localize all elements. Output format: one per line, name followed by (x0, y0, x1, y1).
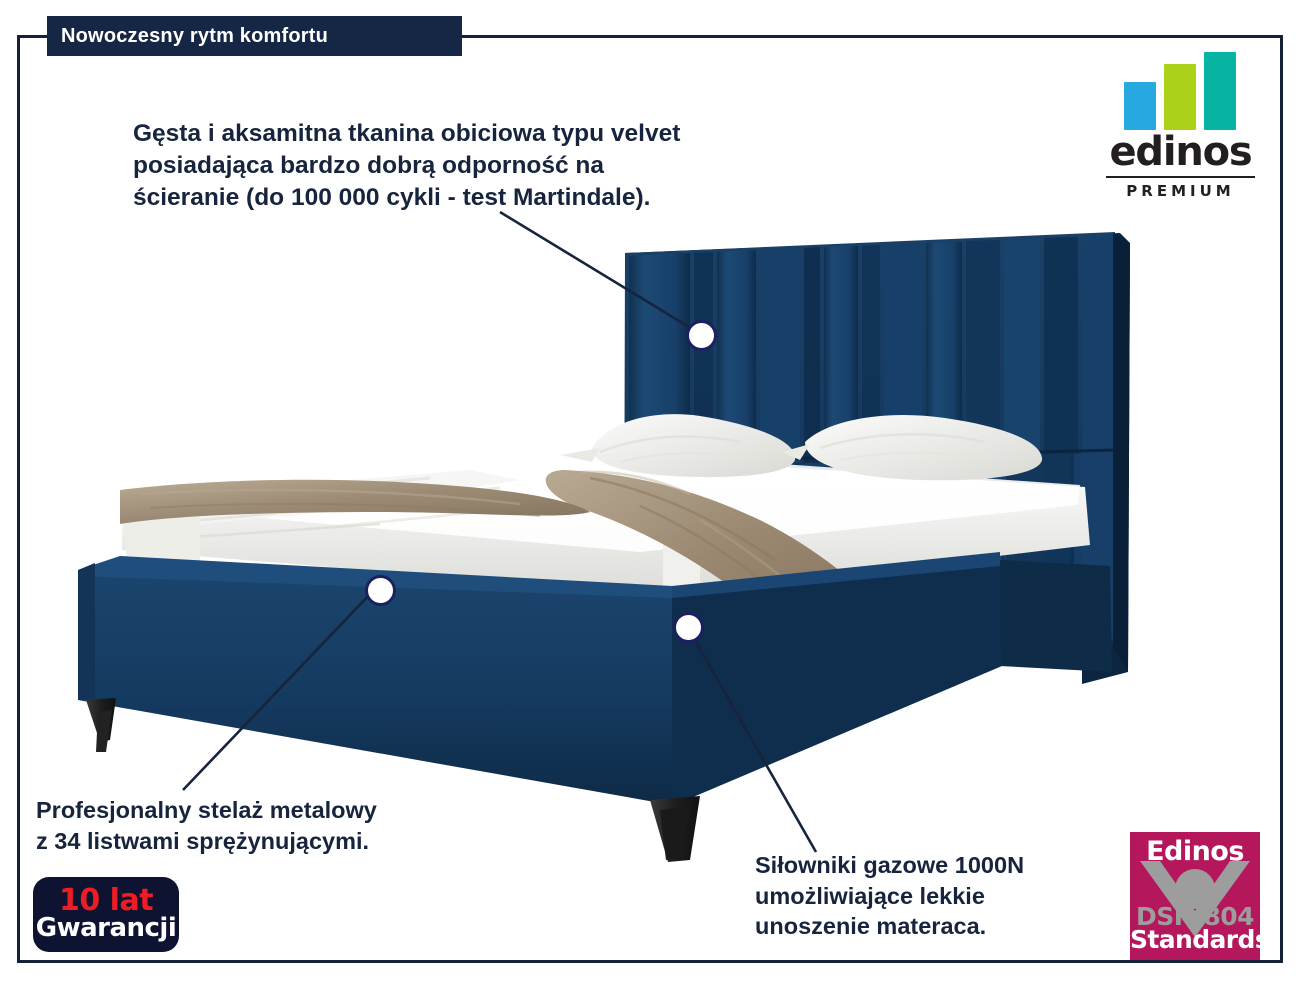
fabric-marker-dot[interactable] (686, 320, 717, 351)
callout-text-gas: Siłowniki gazowe 1000N umożliwiające lek… (755, 850, 1155, 942)
callout-slats-line-1: Profesjonalny stelaż metalowy (36, 795, 556, 826)
callout-fabric-line-2: posiadająca bardzo dobrą odporność na (133, 150, 833, 182)
callout-fabric-line-3: ścieranie (do 100 000 cykli - test Marti… (133, 182, 833, 214)
callout-fabric-line-1: Gęsta i aksamitna tkanina obiciowa typu … (133, 118, 833, 150)
callout-gas-line-1: Siłowniki gazowe 1000N (755, 850, 1155, 881)
gas-marker-dot[interactable] (673, 612, 704, 643)
callout-text-slats: Profesjonalny stelaż metalowy z 34 listw… (36, 795, 556, 856)
logo-subtitle: PREMIUM (1098, 182, 1263, 200)
bar-chart-icon (1122, 52, 1240, 130)
warranty-years: 10 lat (59, 887, 153, 916)
slats-marker-dot[interactable] (365, 575, 396, 606)
callout-gas-line-3: unoszenie materaca. (755, 911, 1155, 942)
callout-slats-line-2: z 34 listwami sprężynującymi. (36, 826, 556, 857)
logo-wordmark: edinos (1098, 132, 1263, 172)
logo-bar-3 (1204, 52, 1236, 130)
title-ribbon: Nowoczesny rytm komfortu (47, 16, 462, 56)
edinos-premium-logo: edinos PREMIUM (1098, 52, 1263, 207)
logo-bar-2 (1164, 64, 1196, 130)
callout-text-fabric: Gęsta i aksamitna tkanina obiciowa typu … (133, 118, 833, 214)
dsi-standards-label: Standards (1130, 925, 1260, 954)
dsi-standards-badge: Edinos DSI 804 Standards (1130, 832, 1260, 960)
page-title: Nowoczesny rytm komfortu (61, 25, 328, 48)
infographic-canvas: Nowoczesny rytm komfortu Gęsta i aksamit… (0, 0, 1300, 1000)
warranty-label: Gwarancji (36, 915, 177, 942)
callout-gas-line-2: umożliwiające lekkie (755, 881, 1155, 912)
bed-base-right (1000, 560, 1112, 672)
warranty-badge: 10 lat Gwarancji (33, 877, 179, 952)
bed-base-front (78, 552, 1002, 806)
logo-bar-1 (1124, 82, 1156, 130)
logo-divider (1106, 176, 1255, 178)
